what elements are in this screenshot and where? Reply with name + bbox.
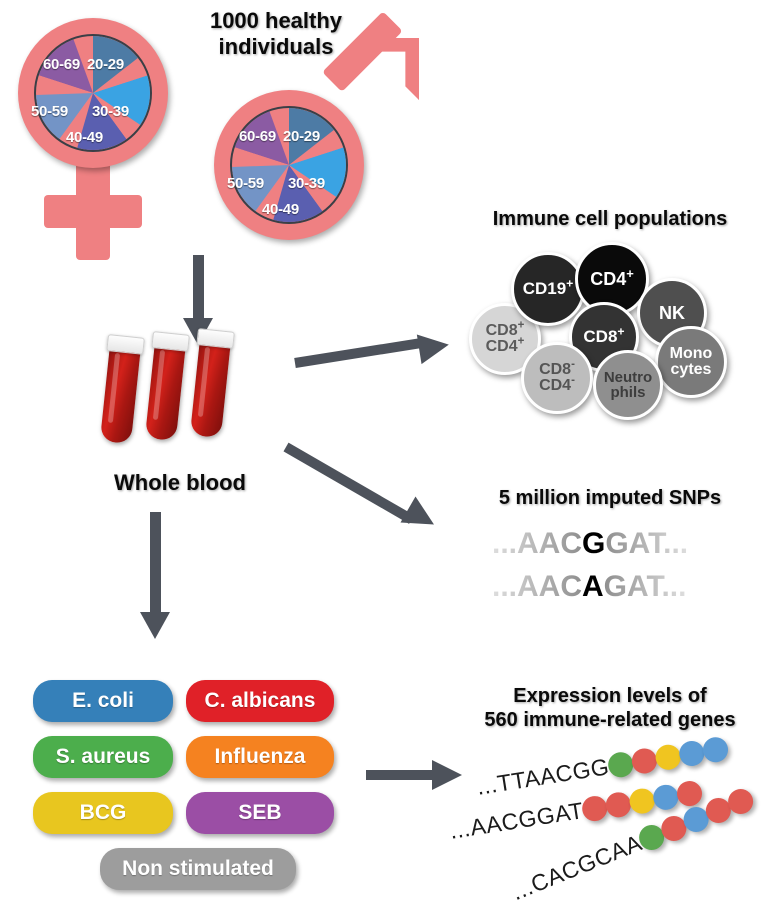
blood-tube	[189, 328, 233, 439]
age-label-40-49: 40-49	[66, 129, 103, 146]
stimulus-non-stimulated[interactable]: Non stimulated	[100, 848, 296, 890]
expression-title-line1: Expression levels of	[455, 685, 765, 709]
female-stem-horizontal	[44, 195, 142, 228]
arrow-blood-to-immune	[295, 330, 460, 380]
snp-sequence-row: ...AACAGAT...	[492, 570, 686, 604]
snp-variant-1: G	[582, 527, 605, 560]
age-label-50-59: 50-59	[31, 103, 68, 120]
age-label-20-29: 20-29	[87, 56, 124, 73]
rna-bead	[628, 787, 657, 816]
cohort-title: 1000 healthy individuals	[176, 8, 376, 60]
stimulus-e-coli[interactable]: E. coli	[33, 680, 173, 722]
age-label-60-69: 60-69	[239, 128, 276, 145]
cell-cd19p: CD19+	[511, 252, 585, 326]
age-label-50-59: 50-59	[227, 175, 264, 192]
expression-title: Expression levels of 560 immune-related …	[455, 685, 765, 732]
immune-cell-cluster: CD8+ CD4+CD8+CD4+ CD19+ CD4+ NK CD8+ Mon…	[455, 240, 765, 420]
rna-bead	[630, 747, 659, 776]
stimulus-bcg[interactable]: BCG	[33, 792, 173, 834]
age-label-30-39: 30-39	[92, 103, 129, 120]
rna-bead	[604, 791, 633, 820]
blood-tube	[99, 334, 143, 445]
snp-variant-2: A	[582, 570, 604, 603]
stimulus-influenza[interactable]: Influenza	[186, 736, 334, 778]
age-label-20-29: 20-29	[283, 128, 320, 145]
rna-strand-group: ...TTAACGG ...AACGGAT ...CACGCAA	[455, 748, 771, 918]
immune-title: Immune cell populations	[455, 208, 765, 232]
snps-title: 5 million imputed SNPs	[455, 487, 765, 511]
cell-neutrophils: Neutrophils	[593, 350, 663, 420]
rna-sequence: ...AACGGAT	[448, 797, 585, 845]
snp-sequence-row: ...AACGGAT...	[492, 527, 688, 561]
rna-sequence: ...TTAACGG	[475, 753, 611, 801]
age-label-60-69: 60-69	[43, 56, 80, 73]
rna-sequence: ...CACGCAA	[508, 829, 646, 906]
blood-tubes-group	[108, 330, 258, 450]
cell-cd8n-cd4n: CD8-CD4-	[521, 342, 593, 414]
arrow-blood-to-stimuli	[140, 512, 170, 647]
female-symbol: 20-29 30-39 40-49 50-59 60-69	[8, 10, 188, 260]
rna-bead	[653, 743, 682, 772]
arrow-blood-to-snps	[286, 430, 461, 550]
snp-prefix-2: ...AAC	[492, 570, 582, 603]
expression-title-line2: 560 immune-related genes	[455, 709, 765, 733]
whole-blood-label: Whole blood	[80, 470, 280, 496]
blood-tube	[144, 331, 188, 442]
age-label-40-49: 40-49	[262, 201, 299, 218]
snp-prefix-1: ...AAC	[492, 527, 582, 560]
rna-bead	[677, 739, 706, 768]
male-symbol: 20-29 30-39 40-49 50-59 60-69	[200, 30, 410, 245]
stimulus-c-albicans[interactable]: C. albicans	[186, 680, 334, 722]
age-label-30-39: 30-39	[288, 175, 325, 192]
cell-monocytes: Monocytes	[655, 326, 727, 398]
rna-bead	[651, 783, 680, 812]
rna-bead	[701, 735, 730, 764]
stimulus-seb[interactable]: SEB	[186, 792, 334, 834]
snp-suffix-1: GAT...	[605, 527, 688, 560]
snp-suffix-2: GAT...	[604, 570, 687, 603]
stimulus-s-aureus[interactable]: S. aureus	[33, 736, 173, 778]
